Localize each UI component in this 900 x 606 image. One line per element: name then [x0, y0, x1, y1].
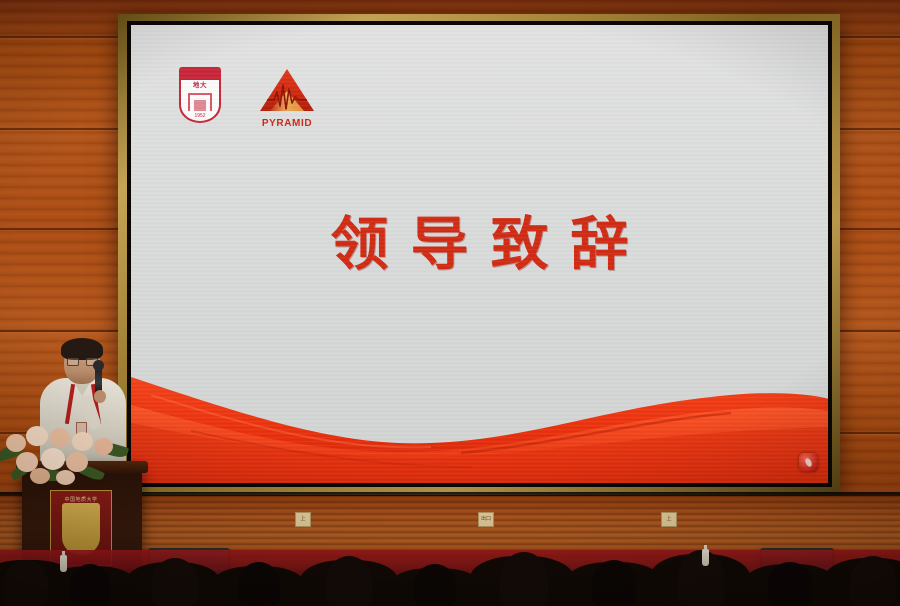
presenter-hair	[61, 338, 103, 360]
auditorium-scene: 地大 1952	[0, 0, 900, 606]
red-silk-ribbon	[131, 371, 828, 483]
water-bottle	[702, 549, 709, 566]
slide-title: 领导致辞	[131, 197, 828, 281]
projection-screen-frame: 地大 1952	[118, 14, 840, 495]
floral-arrangement	[0, 418, 136, 484]
pyramid-wordmark: PYRAMID	[257, 119, 317, 129]
university-crest-logo: 地大 1952	[179, 67, 221, 123]
crest-emblem-motif	[188, 93, 212, 111]
presenter-hand	[94, 390, 106, 403]
crest-center-label: 地大	[179, 83, 221, 90]
slide-logo-row: 地大 1952	[179, 67, 317, 129]
seated-audience	[0, 496, 900, 606]
crest-year-label: 1952	[179, 114, 221, 119]
crest-band	[181, 69, 219, 80]
watermark-badge-icon	[799, 453, 818, 472]
pyramid-triangle-icon	[257, 67, 317, 113]
presentation-slide: 地大 1952	[131, 25, 828, 483]
screen-bezel: 地大 1952	[127, 21, 832, 487]
water-bottle	[60, 555, 67, 572]
pyramid-logo: PYRAMID	[257, 67, 317, 129]
